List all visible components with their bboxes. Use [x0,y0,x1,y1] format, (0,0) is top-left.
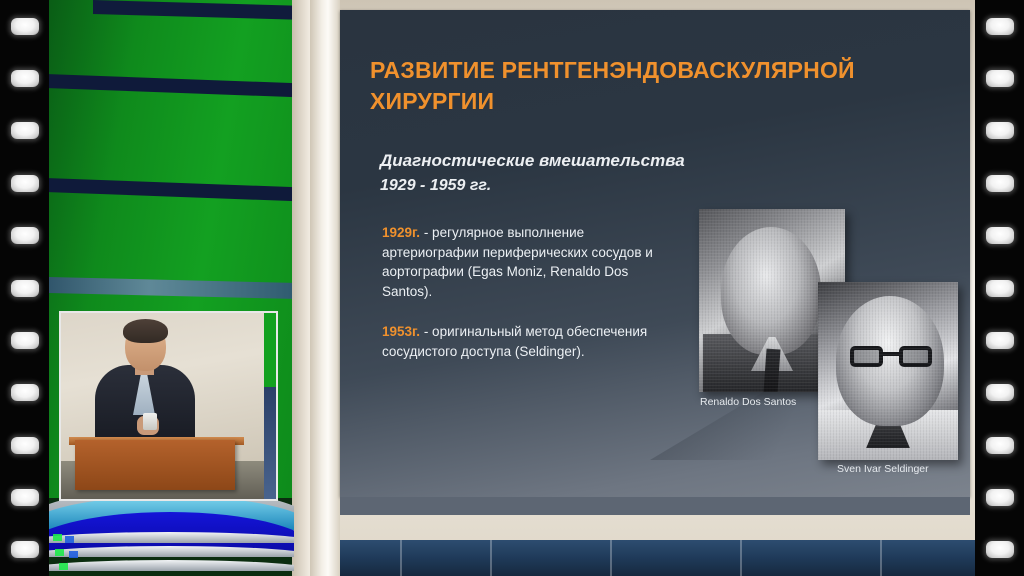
desk-slat-3 [49,560,294,571]
desk-accent-4 [69,551,78,558]
presenter-inset [59,311,278,501]
film-sprocket-hole [11,122,39,139]
bullet-1953: 1953г. - оригинальный метод обеспечения … [382,322,662,361]
slide-left-column [310,0,340,576]
film-sprocket-hole [986,541,1014,558]
film-sprocket-hole [11,437,39,454]
film-sprocket-hole [11,332,39,349]
film-sprocket-hole [986,122,1014,139]
desk-accent-1 [53,534,62,541]
presentation-slide: РАЗВИТИЕ РЕНТГЕНЭНДОВАСКУЛЯРНОЙ ХИРУРГИИ… [340,10,970,497]
film-sprocket-hole [11,175,39,192]
film-sprocket-hole [11,70,39,87]
desk-accent-2 [65,536,74,543]
film-sprocket-hole [986,489,1014,506]
presenter-cup [143,413,157,430]
inset-blue-edge [264,387,276,501]
film-sprocket-hole [986,384,1014,401]
slide-footer-bar [340,497,970,515]
slide-title: РАЗВИТИЕ РЕНТГЕНЭНДОВАСКУЛЯРНОЙ ХИРУРГИИ [370,55,890,117]
bullet-1929-text: - регулярное выполнение артериографии пе… [382,225,653,299]
desk-accent-3 [55,549,64,556]
desk-accent-5 [59,563,68,570]
inset-green-edge [264,313,276,387]
film-sprocket-hole [11,489,39,506]
slide-subtitle-line-2: 1929 - 1959 гг. [380,174,800,197]
podium [75,440,235,490]
slide-subtitle-line-1: Диагностические вмешательства [380,149,800,174]
bullet-1929-year: 1929г. [382,225,420,240]
presenter-hair [123,319,168,343]
portrait-sven-ivar-seldinger [818,282,958,460]
film-sprocket-hole [11,280,39,297]
film-sprocket-hole [986,280,1014,297]
bullet-1953-year: 1953г. [382,324,420,339]
film-sprocket-hole [11,227,39,244]
caption-sven-ivar-seldinger: Sven Ivar Seldinger [837,463,929,475]
bullet-1929: 1929г. - регулярное выполнение артериогр… [382,223,662,301]
film-sprocket-hole [11,384,39,401]
film-sprocket-hole [986,332,1014,349]
lower-blue-band [340,540,975,576]
seldinger-photo-grain [818,282,958,460]
film-sprocket-hole [986,437,1014,454]
caption-renaldo-dos-santos: Renaldo Dos Santos [700,396,796,408]
film-sprocket-hole [986,175,1014,192]
desk-slat-1 [49,532,294,543]
video-frame: РАЗВИТИЕ РЕНТГЕНЭНДОВАСКУЛЯРНОЙ ХИРУРГИИ… [0,0,1024,576]
film-strip-left [0,0,49,576]
slide-subtitle: Диагностические вмешательства 1929 - 195… [380,149,800,197]
film-sprocket-hole [11,541,39,558]
film-sprocket-hole [986,227,1014,244]
film-sprocket-hole [986,70,1014,87]
bullet-1953-text: - оригинальный метод обеспечения сосудис… [382,324,647,359]
film-sprocket-hole [11,18,39,35]
film-strip-right [975,0,1024,576]
film-sprocket-hole [986,18,1014,35]
desk-slat-2 [49,546,294,557]
